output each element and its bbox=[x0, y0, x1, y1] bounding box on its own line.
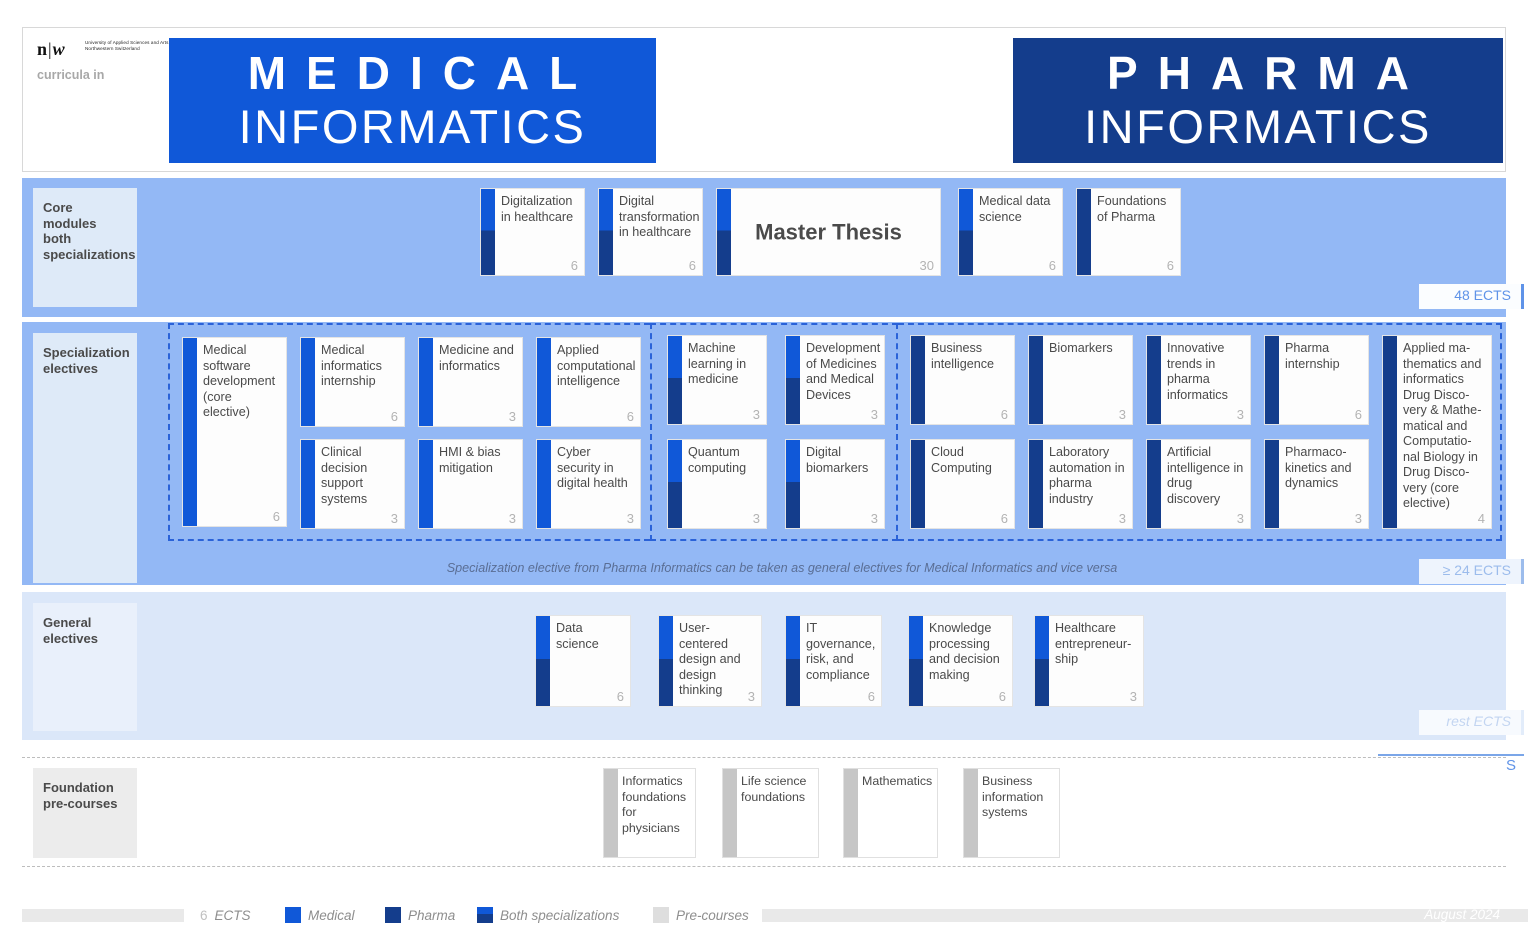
card-title: Foundations of Pharma bbox=[1097, 194, 1176, 225]
card-ects: 6 bbox=[571, 258, 578, 273]
track-bar-medical bbox=[419, 338, 433, 426]
logo-letter-n: n bbox=[37, 39, 47, 59]
legend-swatch-precourse-icon bbox=[653, 907, 669, 923]
card-ects: 3 bbox=[1130, 689, 1137, 704]
card-title: Clinical decision support systems bbox=[321, 445, 400, 507]
card-ects: 6 bbox=[868, 689, 875, 704]
card-medical-data-science[interactable]: Medical data science 6 bbox=[958, 188, 1063, 276]
track-bar-precourse bbox=[964, 769, 978, 857]
card-title: Applied ma-thematics and informatics Dru… bbox=[1403, 341, 1487, 512]
legend-precourses-label: Pre-courses bbox=[676, 908, 749, 923]
card-title: Digital biomarkers bbox=[806, 445, 880, 476]
track-bar-pharma bbox=[1077, 189, 1091, 275]
track-bar-pharma bbox=[911, 336, 925, 424]
card-title: Medical data science bbox=[979, 194, 1058, 225]
card-title: Mathematics bbox=[862, 774, 933, 790]
badge-general-ects: rest ECTS bbox=[1419, 710, 1524, 735]
title-medical-informatics: MEDICAL INFORMATICS bbox=[169, 38, 656, 163]
card-business-intelligence[interactable]: Business intelligence 6 bbox=[910, 335, 1015, 425]
legend-item-ects: 6 ECTS bbox=[200, 904, 251, 926]
card-ects: 6 bbox=[1001, 407, 1008, 422]
card-ects: 3 bbox=[753, 407, 760, 422]
card-quantum-computing[interactable]: Quantum computing 3 bbox=[667, 439, 767, 529]
track-bar-medical bbox=[301, 440, 315, 528]
card-title: Pharma internship bbox=[1285, 341, 1364, 372]
card-innovative-trends-in-pharma-informatics[interactable]: Innovative trends in pharma informatics … bbox=[1146, 335, 1251, 425]
track-bar-pharma bbox=[1147, 336, 1161, 424]
card-ects: 6 bbox=[999, 689, 1006, 704]
track-bar-both bbox=[786, 616, 800, 706]
card-ects: 3 bbox=[871, 407, 878, 422]
track-bar-pharma bbox=[1265, 440, 1279, 528]
track-bar-both bbox=[599, 189, 613, 275]
university-name: University of Applied Sciences and Arts … bbox=[85, 40, 171, 52]
card-master-thesis[interactable]: Master Thesis 30 bbox=[716, 188, 941, 276]
university-logo: n|w University of Applied Sciences and A… bbox=[23, 28, 169, 171]
track-bar-medical bbox=[419, 440, 433, 528]
card-title: Biomarkers bbox=[1049, 341, 1128, 357]
card-title: Knowledge processing and decision making bbox=[929, 621, 1008, 683]
card-business-information-systems[interactable]: Business information systems bbox=[963, 768, 1060, 858]
row-label-specialization-electives: Specialization electives bbox=[33, 333, 137, 583]
track-bar-both bbox=[668, 440, 682, 528]
card-title: Data science bbox=[556, 621, 626, 652]
legend-swatch-pharma-icon bbox=[385, 907, 401, 923]
legend: 6 ECTS Medical Pharma Both specializatio… bbox=[22, 904, 1506, 926]
logo-letter-w: w bbox=[53, 39, 65, 59]
card-title: Quantum computing bbox=[688, 445, 762, 476]
card-hmi-and-bias-mitigation[interactable]: HMI & bias mitigation 3 bbox=[418, 439, 523, 529]
card-ects: 6 bbox=[273, 509, 280, 524]
legend-item-medical: Medical bbox=[285, 904, 355, 926]
legend-swatch-medical-icon bbox=[285, 907, 301, 923]
track-bar-both bbox=[659, 616, 673, 706]
track-bar-both bbox=[668, 336, 682, 424]
card-title: HMI & bias mitigation bbox=[439, 445, 518, 476]
track-bar-medical bbox=[301, 338, 315, 426]
card-data-science[interactable]: Data science 6 bbox=[535, 615, 631, 707]
card-title: Artificial intelligence in drug discover… bbox=[1167, 445, 1246, 507]
card-title: Machine learning in medicine bbox=[688, 341, 762, 388]
card-medical-informatics-internship[interactable]: Medical informatics internship 6 bbox=[300, 337, 405, 427]
card-cloud-computing[interactable]: Cloud Computing 6 bbox=[910, 439, 1015, 529]
card-ects: 3 bbox=[871, 511, 878, 526]
title-pharma-line2: INFORMATICS bbox=[1013, 99, 1503, 155]
track-bar-precourse bbox=[604, 769, 618, 857]
legend-rail-left bbox=[22, 909, 184, 922]
card-pharmacokinetics-and-dynamics[interactable]: Pharmaco-kinetics and dynamics 3 bbox=[1264, 439, 1369, 529]
card-ects: 4 bbox=[1478, 511, 1485, 526]
card-title: Life science foundations bbox=[741, 774, 814, 805]
card-informatics-foundations-for-physicians[interactable]: Informatics foundations for physicians bbox=[603, 768, 696, 858]
track-bar-precourse bbox=[844, 769, 858, 857]
curriculum-diagram: n|w University of Applied Sciences and A… bbox=[0, 0, 1540, 947]
card-title: Cloud Computing bbox=[931, 445, 1010, 476]
card-ects: 6 bbox=[617, 689, 624, 704]
track-bar-precourse bbox=[723, 769, 737, 857]
card-pharma-internship[interactable]: Pharma internship 6 bbox=[1264, 335, 1369, 425]
track-bar-both bbox=[959, 189, 973, 275]
track-bar-both bbox=[786, 440, 800, 528]
card-mathematics[interactable]: Mathematics bbox=[843, 768, 938, 858]
card-healthcare-entrepreneurship[interactable]: Healthcare entrepreneur-ship 3 bbox=[1034, 615, 1144, 707]
card-cyber-security-in-digital-health[interactable]: Cyber security in digital health 3 bbox=[536, 439, 641, 529]
card-ects: 3 bbox=[1237, 511, 1244, 526]
card-user-centered-design-and-design-thinking[interactable]: User-centered design and design thinking… bbox=[658, 615, 762, 707]
date-stamp: August 2024 bbox=[1380, 904, 1506, 926]
fhnw-logo-mark: n|w bbox=[37, 39, 65, 60]
title-medical-line1: MEDICAL bbox=[169, 47, 656, 99]
card-digital-biomarkers[interactable]: Digital biomarkers 3 bbox=[785, 439, 885, 529]
card-title: Digitalization in healthcare bbox=[501, 194, 580, 225]
track-bar-medical bbox=[537, 338, 551, 426]
card-ects: 3 bbox=[509, 409, 516, 424]
card-ects: 3 bbox=[753, 511, 760, 526]
card-artificial-intelligence-in-drug-discovery[interactable]: Artificial intelligence in drug discover… bbox=[1146, 439, 1251, 529]
card-medicine-and-informatics[interactable]: Medicine and informatics 3 bbox=[418, 337, 523, 427]
card-digital-transformation-in-healthcare[interactable]: Digital transformation in healthcare 6 bbox=[598, 188, 703, 276]
card-life-science-foundations[interactable]: Life science foundations bbox=[722, 768, 819, 858]
legend-item-pharma: Pharma bbox=[385, 904, 455, 926]
legend-item-both: Both specializations bbox=[477, 904, 619, 926]
card-title: IT governance, risk, and compliance bbox=[806, 621, 877, 683]
row-label-general-electives: General electives bbox=[33, 603, 137, 731]
card-ects: 3 bbox=[509, 511, 516, 526]
card-it-governance-risk-and-compliance[interactable]: IT governance, risk, and compliance 6 bbox=[785, 615, 882, 707]
track-bar-medical bbox=[537, 440, 551, 528]
card-applied-computational-intelligence[interactable]: Applied computational intelligence 6 bbox=[536, 337, 641, 427]
card-title: Healthcare entrepreneur-ship bbox=[1055, 621, 1139, 668]
title-pharma-informatics: PHARMA INFORMATICS bbox=[1013, 38, 1503, 163]
card-ects: 3 bbox=[1119, 511, 1126, 526]
legend-ects-number: 6 bbox=[200, 908, 208, 923]
track-bar-pharma bbox=[1029, 440, 1043, 528]
track-bar-pharma bbox=[911, 440, 925, 528]
card-knowledge-processing-and-decision-making[interactable]: Knowledge processing and decision making… bbox=[908, 615, 1013, 707]
card-title: Business intelligence bbox=[931, 341, 1010, 372]
card-machine-learning-in-medicine[interactable]: Machine learning in medicine 3 bbox=[667, 335, 767, 425]
card-ects: 6 bbox=[1001, 511, 1008, 526]
curricula-label: curricula in bbox=[37, 68, 104, 82]
card-digitalization-in-healthcare[interactable]: Digitalization in healthcare 6 bbox=[480, 188, 585, 276]
card-ects: 3 bbox=[391, 511, 398, 526]
card-ects: 3 bbox=[1237, 407, 1244, 422]
card-laboratory-automation-in-pharma-industry[interactable]: Laboratory automation in pharma industry… bbox=[1028, 439, 1133, 529]
card-title: Applied computational intelligence bbox=[557, 343, 636, 390]
track-bar-medical bbox=[183, 338, 197, 526]
card-ects: 6 bbox=[391, 409, 398, 424]
card-biomarkers[interactable]: Biomarkers 3 bbox=[1028, 335, 1133, 425]
track-bar-both bbox=[536, 616, 550, 706]
header: n|w University of Applied Sciences and A… bbox=[22, 27, 1506, 172]
track-bar-pharma bbox=[1265, 336, 1279, 424]
track-bar-both bbox=[909, 616, 923, 706]
card-title: Cyber security in digital health bbox=[557, 445, 636, 492]
card-title: Master Thesis bbox=[717, 224, 940, 240]
card-title: Medical informatics internship bbox=[321, 343, 400, 390]
legend-swatch-both-icon bbox=[477, 907, 493, 923]
card-applied-mathematics-drug-discovery[interactable]: Applied ma-thematics and informatics Dru… bbox=[1382, 335, 1492, 529]
card-medical-software-development[interactable]: Medical software development (core elect… bbox=[182, 337, 287, 527]
title-medical-line2: INFORMATICS bbox=[169, 99, 656, 155]
badge-core-ects: 48 ECTS bbox=[1419, 284, 1524, 309]
track-bar-pharma bbox=[1029, 336, 1043, 424]
card-ects: 6 bbox=[1167, 258, 1174, 273]
card-ects: 6 bbox=[627, 409, 634, 424]
general-electives-band bbox=[22, 592, 1506, 740]
card-development-of-medicines-and-medical-devices[interactable]: Development of Medicines and Medical Dev… bbox=[785, 335, 885, 425]
track-bar-pharma bbox=[1147, 440, 1161, 528]
badge-specialization-ects: ≥ 24 ECTS bbox=[1419, 559, 1524, 584]
card-title: Laboratory automation in pharma industry bbox=[1049, 445, 1128, 507]
legend-medical-label: Medical bbox=[308, 908, 355, 923]
card-title: Informatics foundations for physicians bbox=[622, 774, 691, 836]
track-bar-both bbox=[481, 189, 495, 275]
card-title: Medical software development (core elect… bbox=[203, 343, 282, 421]
track-bar-pharma bbox=[1383, 336, 1397, 528]
legend-pharma-label: Pharma bbox=[408, 908, 455, 923]
card-foundations-of-pharma[interactable]: Foundations of Pharma 6 bbox=[1076, 188, 1181, 276]
specialization-note: Specialization elective from Pharma Info… bbox=[137, 561, 1427, 575]
row-label-core-modules: Core modules both specializations bbox=[33, 188, 137, 307]
card-title: Digital transformation in healthcare bbox=[619, 194, 698, 241]
card-title: Medicine and informatics bbox=[439, 343, 518, 374]
card-ects: 6 bbox=[1049, 258, 1056, 273]
card-title: Pharmaco-kinetics and dynamics bbox=[1285, 445, 1364, 492]
card-ects: 30 bbox=[920, 258, 934, 273]
legend-both-label: Both specializations bbox=[500, 908, 619, 923]
card-title: Development of Medicines and Medical Dev… bbox=[806, 341, 880, 403]
card-title: Business information systems bbox=[982, 774, 1055, 821]
card-ects: 3 bbox=[1119, 407, 1126, 422]
card-title: Innovative trends in pharma informatics bbox=[1167, 341, 1246, 403]
row-label-foundation-precourses: Foundation pre-courses bbox=[33, 768, 137, 858]
card-ects: 3 bbox=[627, 511, 634, 526]
legend-item-precourses: Pre-courses bbox=[653, 904, 749, 926]
card-ects: 3 bbox=[748, 689, 755, 704]
track-bar-both bbox=[786, 336, 800, 424]
card-ects: 6 bbox=[1355, 407, 1362, 422]
card-ects: 6 bbox=[689, 258, 696, 273]
title-pharma-line1: PHARMA bbox=[1013, 47, 1503, 99]
card-title: User-centered design and design thinking bbox=[679, 621, 757, 699]
card-ects: 3 bbox=[1355, 511, 1362, 526]
card-clinical-decision-support-systems[interactable]: Clinical decision support systems 3 bbox=[300, 439, 405, 529]
total-divider bbox=[1378, 754, 1524, 756]
track-bar-both bbox=[1035, 616, 1049, 706]
legend-ects-label: ECTS bbox=[215, 908, 251, 923]
